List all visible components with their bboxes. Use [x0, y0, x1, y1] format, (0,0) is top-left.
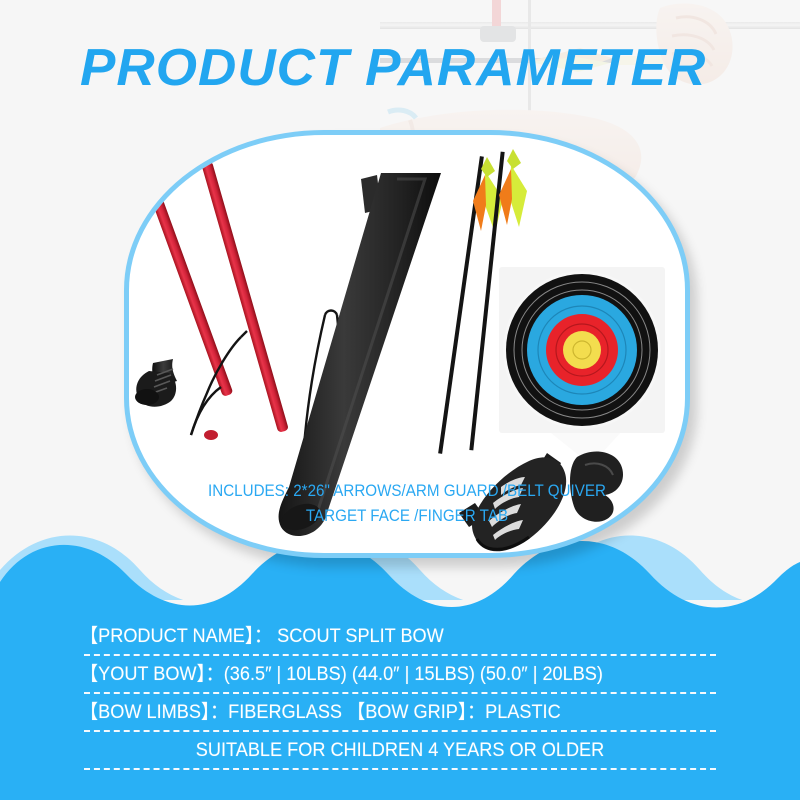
spec-divider-4: [84, 768, 716, 770]
spec-value-yout-bow: (36.5″ | 10LBS) (44.0″ | 15LBS) (50.0″ |…: [224, 663, 603, 685]
spec-row-age-note: SUITABLE FOR CHILDREN 4 YEARS OR OLDER: [102, 732, 697, 768]
spec-label-yout-bow: 【YOUT BOW】: [80, 663, 206, 685]
includes-line-2: TARGET FACE /FINGER TAB: [151, 504, 663, 529]
spec-label-product-name: 【PRODUCT NAME】: [80, 625, 254, 647]
spec-label-bow-limbs: 【BOW LIMBS】: [80, 701, 210, 723]
product-parameter-page: PRODUCT PARAMETER: [0, 0, 800, 800]
includes-caption: INCLUDES: 2*26" ARROWS/ARM GUARD /BELT Q…: [151, 479, 663, 529]
spec-row-bow-limbs: 【BOW LIMBS】：FIBERGLASS 【BOW GRIP】：PLASTI…: [80, 694, 675, 730]
spec-row-product-name: 【PRODUCT NAME】： SCOUT SPLIT BOW: [80, 618, 675, 654]
bow-limb-second: [201, 161, 289, 440]
spec-row-yout-bow: 【YOUT BOW】：(36.5″ | 10LBS) (44.0″ | 15LB…: [80, 656, 675, 692]
arrow-one: [438, 156, 503, 454]
includes-line-1: INCLUDES: 2*26" ARROWS/ARM GUARD /BELT Q…: [151, 479, 663, 504]
spec-sep-0: ：: [254, 625, 272, 647]
spec-value-product-name: SCOUT SPLIT BOW: [277, 625, 444, 647]
spec-value-age-note: SUITABLE FOR CHILDREN 4 YEARS OR OLDER: [196, 739, 604, 761]
spec-table: 【PRODUCT NAME】： SCOUT SPLIT BOW 【YOUT BO…: [80, 618, 720, 770]
spec-sep-2: ：: [210, 701, 228, 723]
spec-value-bow-limbs: FIBERGLASS 【BOW GRIP】：PLASTIC: [228, 701, 561, 723]
spec-panel: 【PRODUCT NAME】： SCOUT SPLIT BOW 【YOUT BO…: [0, 610, 800, 800]
spec-sep-1: ：: [206, 663, 224, 685]
target-face: [499, 267, 665, 465]
page-title: PRODUCT PARAMETER: [80, 38, 706, 98]
product-showcase-card: INCLUDES: 2*26" ARROWS/ARM GUARD /BELT Q…: [124, 130, 690, 558]
